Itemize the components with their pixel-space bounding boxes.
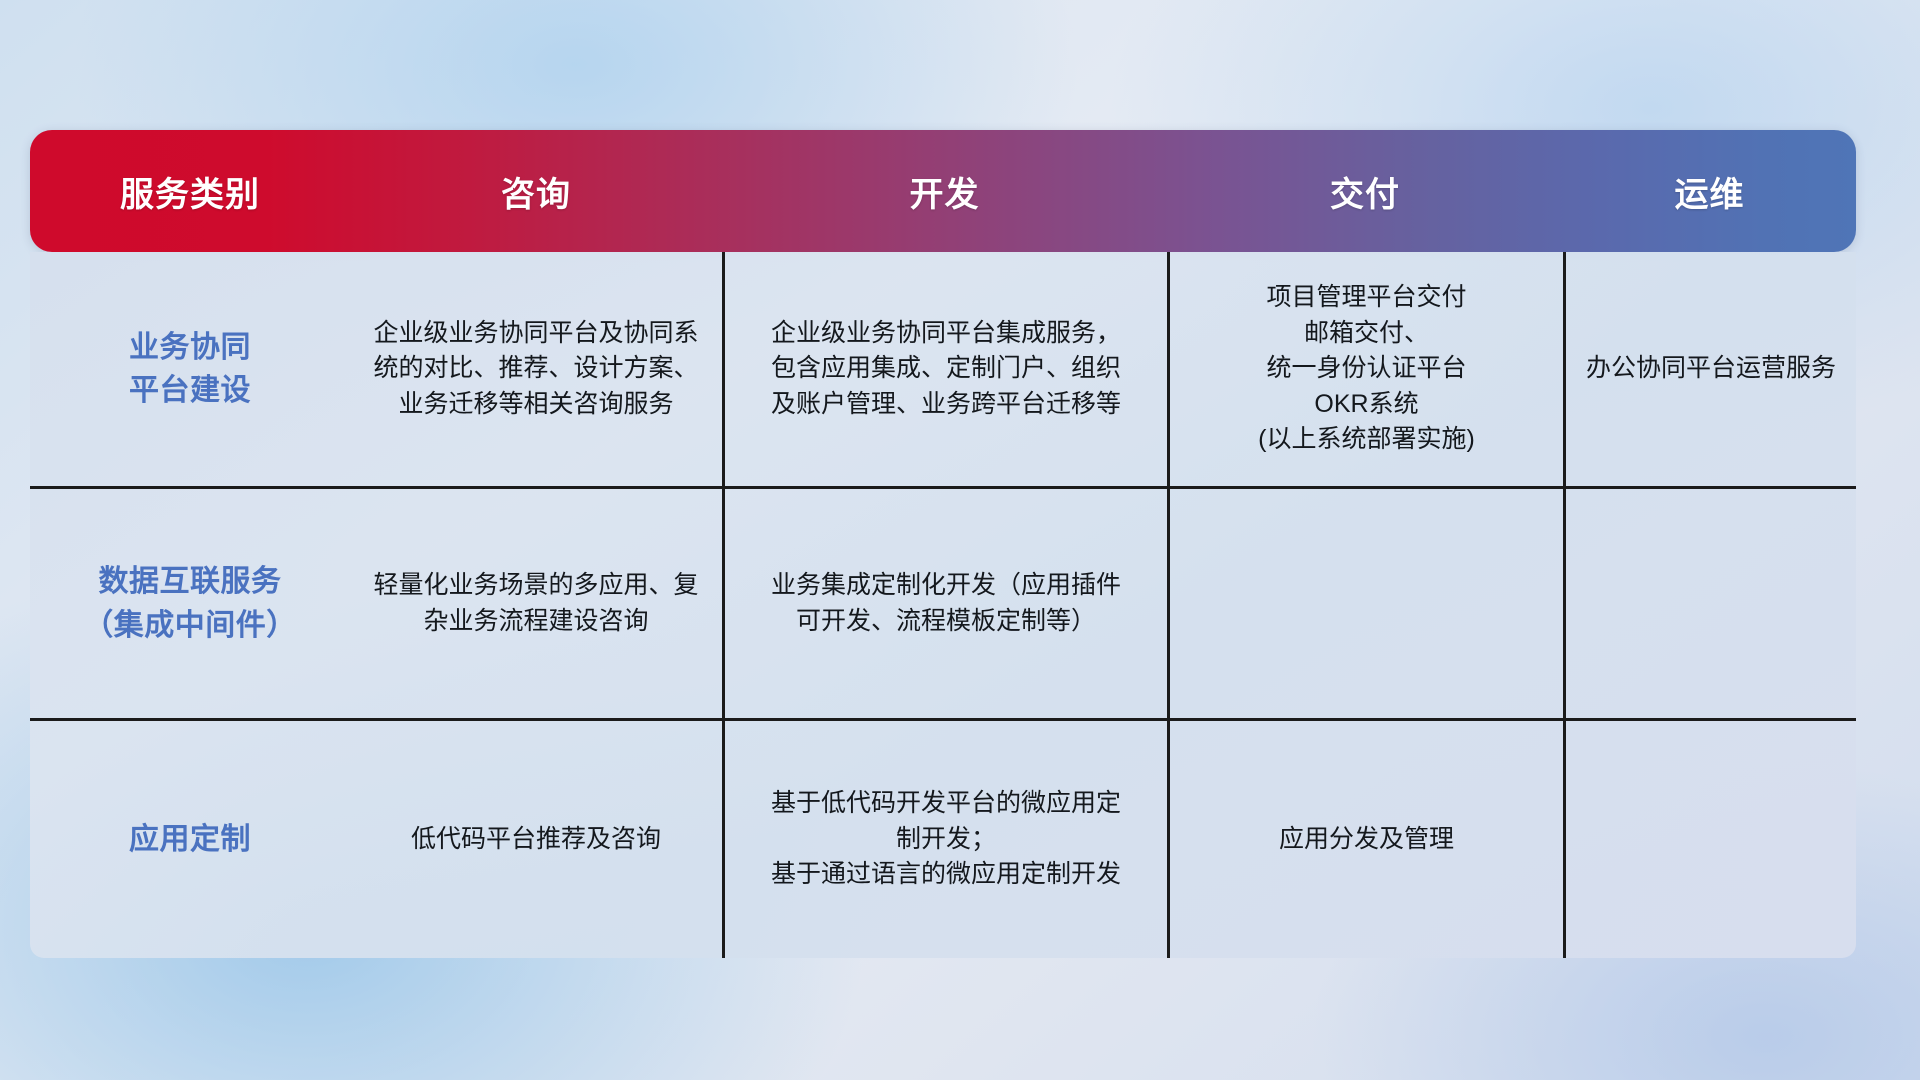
table-row: 应用定制 低代码平台推荐及咨询 基于低代码开发平台的微应用定 制开发； 基于通过… <box>30 721 1856 958</box>
cell-delivery: 应用分发及管理 <box>1167 721 1563 958</box>
cell-ops <box>1563 721 1856 958</box>
row-category-label: 数据互联服务 （集成中间件） <box>30 489 350 718</box>
cell-development: 业务集成定制化开发（应用插件 可开发、流程模板定制等） <box>722 489 1167 718</box>
cell-ops <box>1563 489 1856 718</box>
column-header-development: 开发 <box>722 167 1167 216</box>
cell-consulting: 轻量化业务场景的多应用、复 杂业务流程建设咨询 <box>350 489 722 718</box>
column-header-category: 服务类别 <box>30 167 350 216</box>
cell-consulting: 企业级业务协同平台及协同系 统的对比、推荐、设计方案、 业务迁移等相关咨询服务 <box>350 252 722 486</box>
cell-delivery <box>1167 489 1563 718</box>
row-category-label: 应用定制 <box>30 721 350 958</box>
cell-ops: 办公协同平台运营服务 <box>1563 252 1856 486</box>
table-row: 数据互联服务 （集成中间件） 轻量化业务场景的多应用、复 杂业务流程建设咨询 业… <box>30 489 1856 721</box>
table-header-row: 服务类别 咨询 开发 交付 运维 <box>30 130 1856 252</box>
service-matrix-table: 服务类别 咨询 开发 交付 运维 业务协同 平台建设 企业级业务协同平台及协同系… <box>30 130 1856 958</box>
cell-development: 基于低代码开发平台的微应用定 制开发； 基于通过语言的微应用定制开发 <box>722 721 1167 958</box>
column-header-consulting: 咨询 <box>350 167 722 216</box>
cell-development: 企业级业务协同平台集成服务， 包含应用集成、定制门户、组织 及账户管理、业务跨平… <box>722 252 1167 486</box>
table-body: 业务协同 平台建设 企业级业务协同平台及协同系 统的对比、推荐、设计方案、 业务… <box>30 252 1856 958</box>
column-header-ops: 运维 <box>1563 167 1856 216</box>
cell-delivery: 项目管理平台交付 邮箱交付、 统一身份认证平台 OKR系统 (以上系统部署实施) <box>1167 252 1563 486</box>
row-category-label: 业务协同 平台建设 <box>30 252 350 486</box>
cell-consulting: 低代码平台推荐及咨询 <box>350 721 722 958</box>
column-header-delivery: 交付 <box>1167 167 1563 216</box>
table-row: 业务协同 平台建设 企业级业务协同平台及协同系 统的对比、推荐、设计方案、 业务… <box>30 252 1856 489</box>
